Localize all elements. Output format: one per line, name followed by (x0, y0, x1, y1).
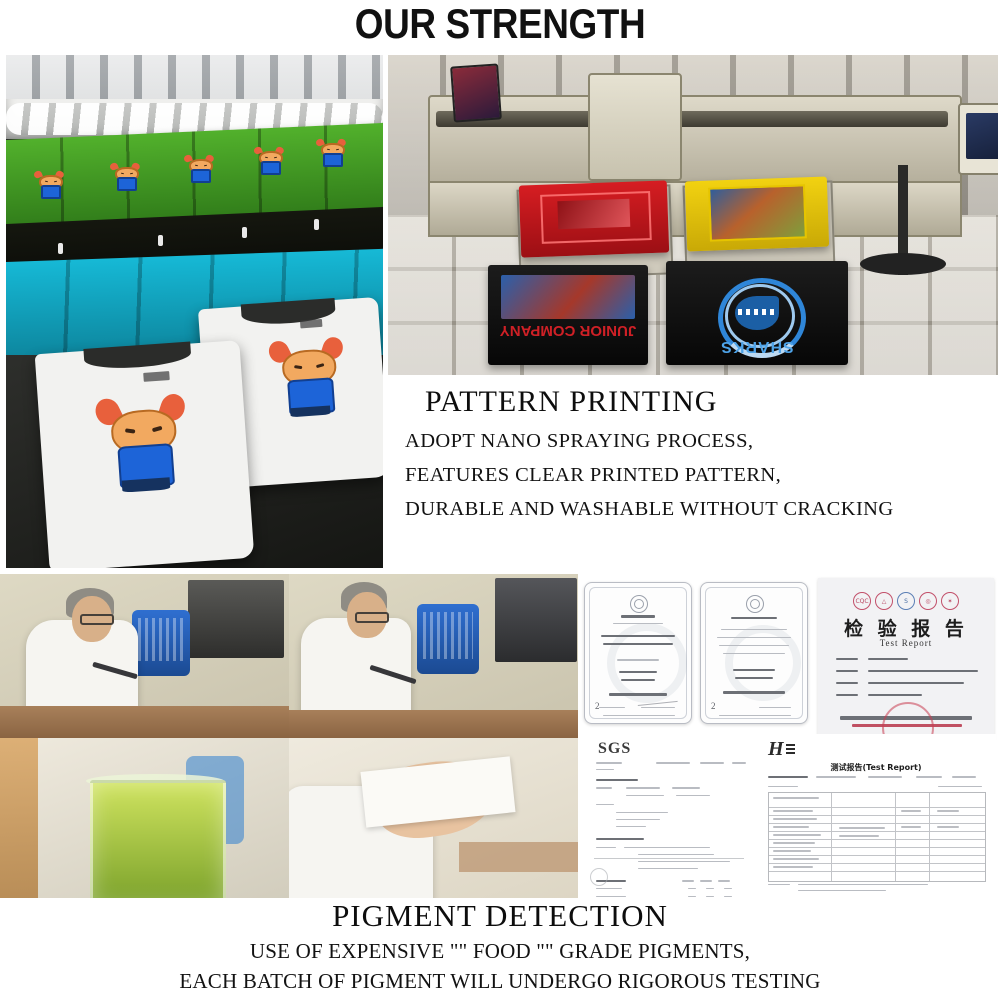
lab-bench (289, 710, 578, 738)
h-report-title: 测试报告(Test Report) (756, 762, 996, 773)
cert-badge-icon: CQC (853, 592, 871, 610)
technician-glasses (355, 612, 389, 623)
white-tshirt (35, 340, 255, 568)
carousel-knob (314, 219, 319, 230)
tshirt-artwork-text: JUNIOR COMPANY (488, 323, 648, 338)
certificate-page-mark: 2 (595, 701, 600, 711)
tshirt-artwork-image (501, 275, 635, 319)
lab-instrument-rack (188, 580, 284, 658)
printer-carriage (588, 73, 682, 181)
bull-mascot-print (272, 336, 343, 418)
printer-rail (436, 111, 948, 127)
bull-mascot-print (186, 155, 212, 181)
tshirt-red (519, 180, 669, 257)
photo-green-pigment-beaker (0, 738, 289, 898)
carousel-knob (158, 235, 163, 246)
page-title: OUR STRENGTH (60, 0, 940, 50)
brand-logo-text (143, 371, 170, 382)
carousel-knob (58, 243, 63, 254)
test-report-title-en: Test Report (818, 638, 994, 648)
certificate-seal-icon (746, 595, 764, 613)
sgs-logo: SGS (598, 740, 631, 758)
cert-badge-icon: ✶ (941, 592, 959, 610)
tshirt-black-junior-company: JUNIOR COMPANY (488, 265, 648, 365)
caption-pattern-printing: PATTERN PRINTING ADOPT NANO SPRAYING PRO… (405, 385, 1000, 521)
bull-mascot-print (36, 171, 62, 197)
sgs-seal-icon (590, 868, 608, 886)
bull-mascot-print (112, 163, 138, 189)
cert-badge-icon: ◎ (919, 592, 937, 610)
bottle-blur (0, 738, 38, 898)
pattern-printing-heading: PATTERN PRINTING (405, 385, 1000, 419)
pattern-printing-line-3: DURABLE AND WASHABLE WITHOUT CRACKING (405, 498, 1000, 521)
chinese-test-report: CQC △ S ◎ ✶ 检 验 报 告 Test Report (818, 578, 994, 738)
technician-glasses (80, 614, 114, 625)
certificate-seal-icon (630, 595, 648, 613)
photo-lab-technician-right (289, 574, 578, 738)
tablet-display (450, 63, 502, 122)
monitor-stand-base (860, 253, 946, 275)
lab-bench (0, 706, 289, 738)
pattern-printing-line-2: FEATURES CLEAR PRINTED PATTERN, (405, 464, 1000, 487)
control-screen (966, 113, 998, 159)
cert-badge-icon: S (897, 592, 915, 610)
bench-blur (459, 842, 578, 872)
tshirt-black-sharks: SHARKS (666, 261, 848, 365)
photo-dtg-printer: JUNIOR COMPANY SHARKS (388, 55, 998, 375)
test-report-title-cn: 检 验 报 告 (818, 614, 994, 641)
certificate-left: 2 (584, 582, 692, 724)
certificates-collage: 2 2 CQC (578, 574, 1000, 898)
pigment-detection-line-1: USE OF EXPENSIVE "" FOOD "" GRADE PIGMEN… (0, 939, 1000, 964)
bull-mascot-print (99, 392, 186, 493)
blue-lab-mixer (132, 610, 190, 676)
photo-laboratory-collage (0, 574, 578, 898)
photo-lab-technician-left (0, 574, 289, 738)
pigment-detection-line-2: EACH BATCH OF PIGMENT WILL UNDERGO RIGOR… (0, 969, 1000, 994)
pattern-printing-line-1: ADOPT NANO SPRAYING PROCESS, (405, 430, 1000, 453)
tshirt-artwork-image (558, 199, 630, 229)
bull-mascot-print (318, 139, 344, 165)
green-pigment-beaker (90, 780, 226, 898)
photo-hand-holding-paper (289, 738, 578, 898)
poster-root: OUR STRENGTH (0, 0, 1000, 1000)
h-report-table (768, 792, 986, 882)
tshirt-artwork-text: SHARKS (666, 338, 848, 354)
caption-pigment-detection: PIGMENT DETECTION USE OF EXPENSIVE "" FO… (0, 898, 1000, 994)
blue-lab-mixer (417, 604, 479, 674)
cert-badge-icon: △ (875, 592, 893, 610)
carousel-knob (242, 227, 247, 238)
pigment-detection-heading: PIGMENT DETECTION (0, 898, 1000, 934)
certificate-page-mark: 2 (711, 701, 716, 711)
brand-logo-text (300, 319, 323, 329)
h-logo: H (768, 738, 784, 761)
tshirt-artwork-image (708, 184, 808, 242)
printer-gantry (428, 95, 962, 187)
bull-body (41, 185, 62, 199)
h-test-report: H 测试报告(Test Report) (756, 734, 996, 894)
bull-mascot-print (256, 147, 282, 173)
lab-instrument-rack (495, 578, 577, 662)
photo-screen-printing-carousel (6, 55, 383, 568)
printer-control-panel (958, 103, 998, 175)
certification-logo-row: CQC △ S ◎ ✶ (818, 592, 994, 610)
tshirt-yellow (685, 177, 829, 252)
sgs-test-report: SGS (582, 734, 754, 894)
certificate-right: 2 (700, 582, 808, 724)
h-logo-mark (786, 742, 795, 754)
